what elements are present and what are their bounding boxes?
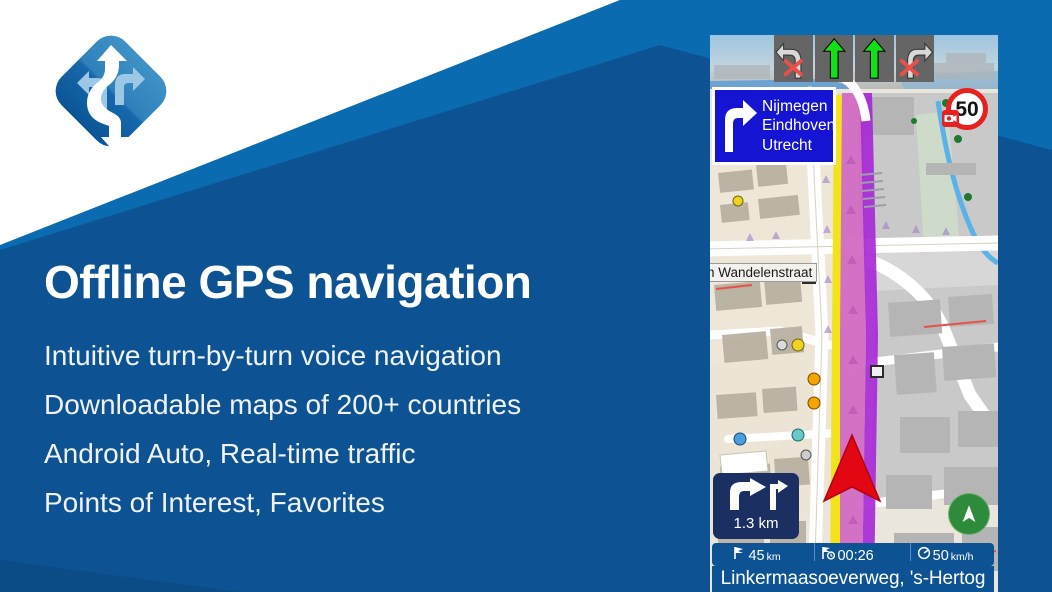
app-logo <box>45 25 177 157</box>
lane-straight-allowed-2 <box>855 35 894 82</box>
turn-right-then-slight-right-icon <box>722 478 790 512</box>
speedometer-icon <box>917 546 931 560</box>
lane-straight-allowed-1 <box>815 35 854 82</box>
sign-turn-right-arrow-icon <box>719 98 759 154</box>
remaining-distance-value: 45 <box>748 548 764 564</box>
sign-city-2: Eindhoven <box>762 116 835 135</box>
feature-item-2: Downloadable maps of 200+ countries <box>44 391 684 419</box>
speed-limit-sign: 50 <box>946 88 988 130</box>
feature-item-4: Points of Interest, Favorites <box>44 489 684 517</box>
current-street-name: Linkermaasoeverweg, 's-Hertog <box>721 568 986 590</box>
page-title: Offline GPS navigation <box>44 258 684 306</box>
speed-camera-icon <box>942 110 959 127</box>
lane-right-prohibited <box>896 35 935 82</box>
next-turn-box[interactable]: 1.3 km <box>713 473 799 539</box>
recenter-compass-button[interactable] <box>948 493 990 535</box>
next-turn-distance: 1.3 km <box>733 515 778 532</box>
clock-flag-icon <box>821 546 835 560</box>
feature-item-3: Android Auto, Real-time traffic <box>44 440 684 468</box>
feature-list: Intuitive turn-by-turn voice navigation … <box>44 342 684 517</box>
current-speed-value: 50 <box>933 548 949 564</box>
remaining-time-cell: 00:26 <box>815 546 881 564</box>
lane-left-prohibited <box>774 35 813 82</box>
lane-guidance-strip <box>774 35 934 82</box>
remaining-distance-unit: km <box>767 551 781 563</box>
distance-flag-icon <box>732 546 746 560</box>
feature-item-1: Intuitive turn-by-turn voice navigation <box>44 342 684 370</box>
remaining-time-value: 00:26 <box>837 548 873 564</box>
trip-info-bar: 45 km 00:26 50 km/h <box>712 543 994 566</box>
mapfactor-navigator-logo-icon <box>45 25 177 157</box>
camera-glyph <box>942 110 959 127</box>
sign-city-list: Nijmegen Eindhoven Utrecht <box>762 97 835 154</box>
current-speed-unit: km/h <box>951 551 974 563</box>
promo-copy: Offline GPS navigation Intuitive turn-by… <box>44 258 684 538</box>
lane-right-arrow-icon <box>896 35 935 82</box>
map-street-label: n Wandelenstraat <box>710 263 817 282</box>
lane-left-arrow-icon <box>774 35 813 82</box>
lane-straight-arrow-icon <box>815 35 854 82</box>
remaining-distance-cell: 45 km <box>726 546 786 564</box>
lane-straight-arrow-icon <box>855 35 894 82</box>
current-street-bar: Linkermaasoeverweg, 's-Hertog <box>712 566 994 592</box>
current-speed-cell: 50 km/h <box>911 546 980 564</box>
navigation-app-screenshot: Nijmegen Eindhoven Utrecht 50 n Wandelen… <box>710 35 998 592</box>
sign-city-3: Utrecht <box>762 136 835 155</box>
destination-sign: Nijmegen Eindhoven Utrecht <box>712 87 836 165</box>
sign-city-1: Nijmegen <box>762 97 835 116</box>
navigation-arrow-icon <box>957 502 981 526</box>
